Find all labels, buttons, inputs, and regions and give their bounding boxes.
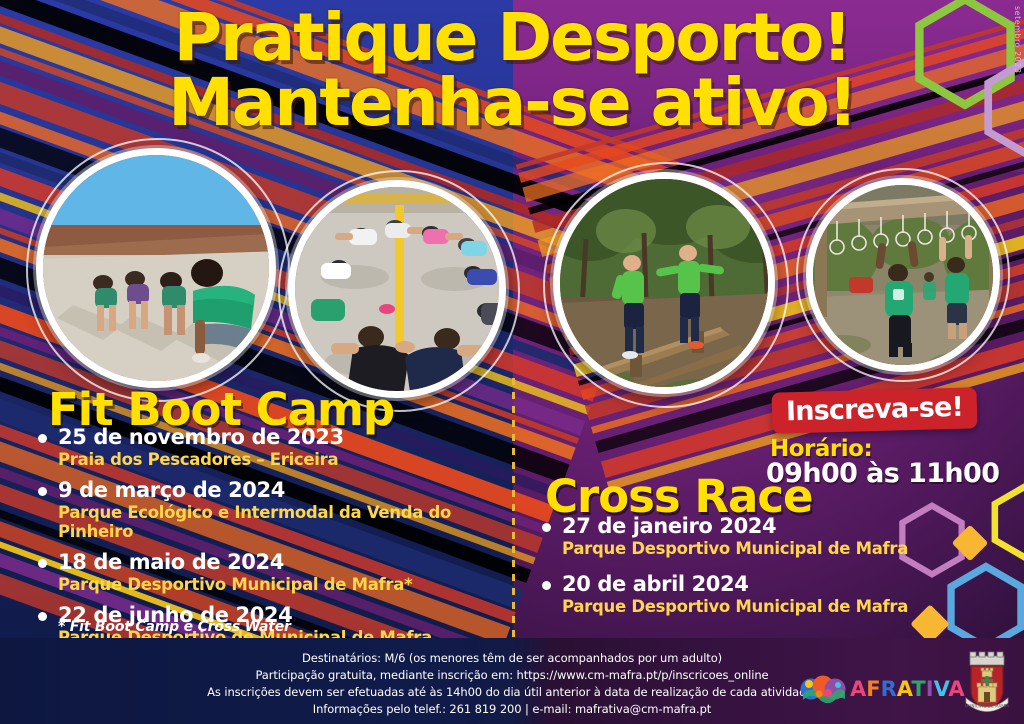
- cross-race-event-list: 27 de janeiro 2024 Parque Desportivo Mun…: [540, 514, 960, 625]
- list-item: 9 de março de 2024 Parque Ecológico e In…: [36, 478, 506, 541]
- logo-municipio-de-mafra: MUNICÍPIO DE MAFRA: [958, 650, 1016, 721]
- event-place: Parque Desportivo Municipal de Mafra: [540, 539, 960, 558]
- event-date: 20 de abril 2024: [540, 572, 960, 596]
- mafrativa-emblem-icon: [800, 672, 848, 706]
- event-place: Parque Desportivo Municipal de Mafra*: [36, 575, 506, 594]
- event-date: 18 de maio de 2024: [36, 550, 506, 574]
- list-item: 20 de abril 2024 Parque Desportivo Munic…: [540, 572, 960, 616]
- photo-crossrace-rings: [806, 178, 1000, 372]
- bullet-icon: [542, 581, 551, 590]
- bullet-icon: [38, 559, 47, 568]
- logo-mafrativa: AFRATIVA: [800, 672, 965, 706]
- list-item: 27 de janeiro 2024 Parque Desportivo Mun…: [540, 514, 960, 558]
- photo-crossrace-balance-beam: [553, 172, 775, 394]
- poster-root: setembro 2023 Pratique Desporto! Mantenh…: [0, 0, 1024, 724]
- headline-line-1: Pratique Desporto!: [0, 8, 1024, 69]
- svg-text:MUNICÍPIO DE MAFRA: MUNICÍPIO DE MAFRA: [965, 704, 1009, 709]
- page-title: Pratique Desporto! Mantenha-se ativo!: [0, 8, 1024, 133]
- bullet-icon: [38, 434, 47, 443]
- list-item: 25 de novembro de 2023 Praia dos Pescado…: [36, 425, 506, 469]
- footer-line-1: Destinatários: M/6 (os menores têm de se…: [0, 650, 1024, 667]
- photo-bootcamp-plank-row: [36, 148, 276, 388]
- fit-boot-camp-footnote: * Fit Boot Camp e Cross Water: [58, 619, 291, 635]
- list-item: 18 de maio de 2024 Parque Desportivo Mun…: [36, 550, 506, 594]
- coat-of-arms-icon: MUNICÍPIO DE MAFRA: [958, 650, 1016, 716]
- photo-bootcamp-circle-stretch: [288, 180, 506, 398]
- event-date: 27 de janeiro 2024: [540, 514, 960, 538]
- headline-line-2: Mantenha-se ativo!: [0, 73, 1024, 134]
- event-date: 9 de março de 2024: [36, 478, 506, 502]
- event-place: Parque Ecológico e Intermodal da Venda d…: [36, 503, 506, 541]
- hexagon-yellow-right-icon: [985, 480, 1024, 564]
- bullet-icon: [542, 523, 551, 532]
- section-divider: [512, 378, 515, 640]
- bullet-icon: [38, 487, 47, 496]
- signup-badge[interactable]: Inscreva-se!: [771, 387, 977, 433]
- event-place: Praia dos Pescadores – Ericeira: [36, 450, 506, 469]
- event-place: Parque Desportivo Municipal de Mafra: [540, 597, 960, 616]
- mafrativa-wordmark: AFRATIVA: [850, 677, 965, 701]
- bullet-icon: [38, 612, 47, 621]
- event-date: 25 de novembro de 2023: [36, 425, 506, 449]
- schedule-value: 09h00 às 11h00: [766, 458, 999, 489]
